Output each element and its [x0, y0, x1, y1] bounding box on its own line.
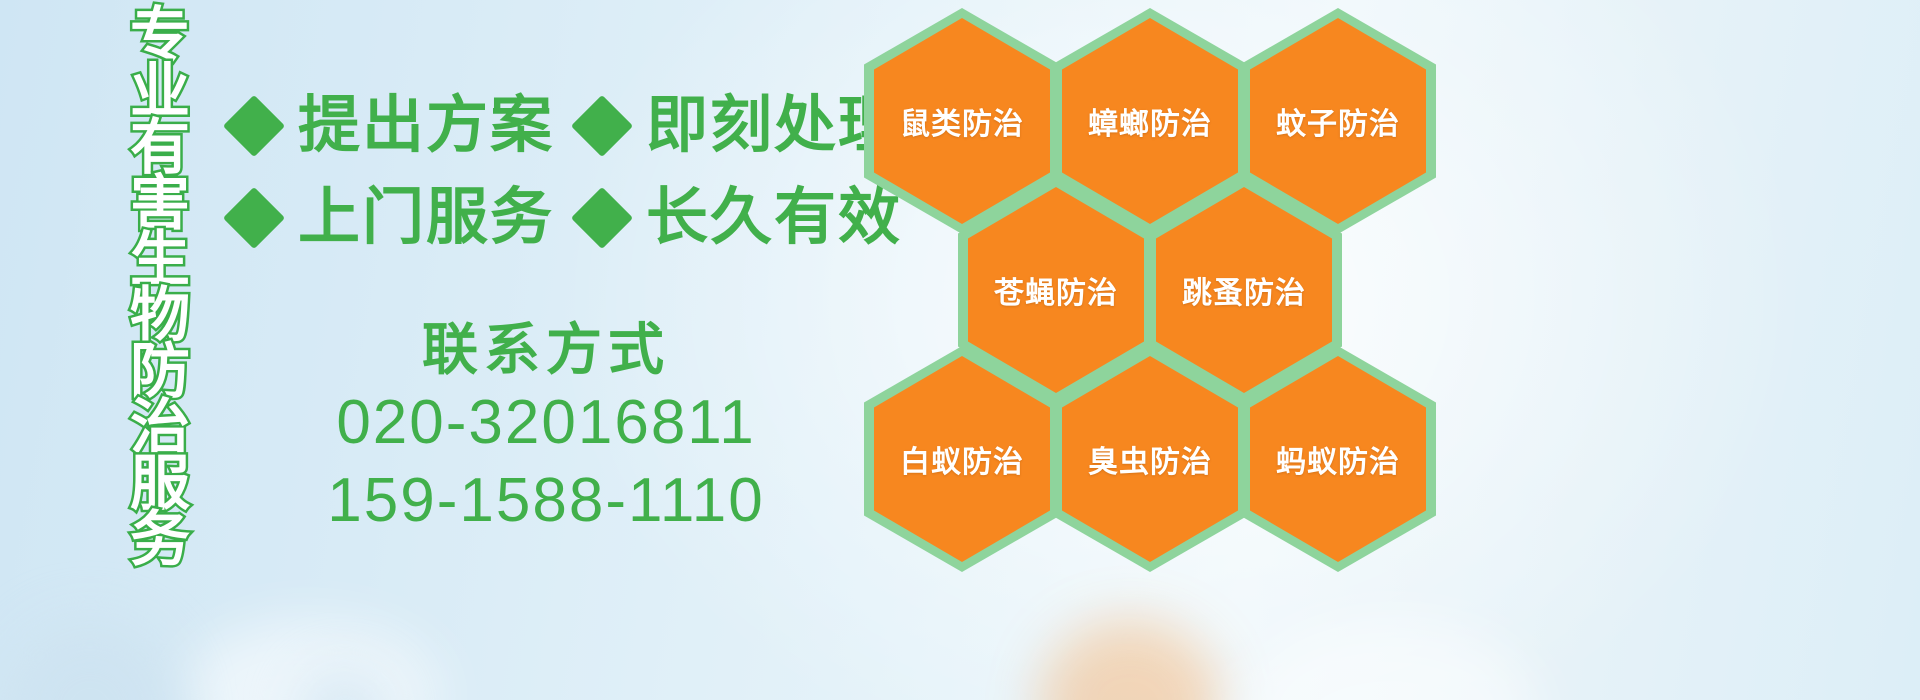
vertical-slogan-char: 服 [130, 456, 190, 512]
hex-label: 蟑螂防治 [1088, 99, 1212, 143]
hex-cell-bedbug[interactable]: 臭虫防治 [1052, 346, 1248, 572]
contact-block: 联系方式 020-32016811 159-1588-1110 [236, 316, 856, 540]
background-bokeh-blob [1240, 620, 1540, 700]
diamond-icon [571, 187, 633, 249]
diamond-icon [571, 95, 633, 157]
hex-label: 臭虫防治 [1088, 437, 1212, 481]
hex-cell-termite[interactable]: 白蚁防治 [864, 346, 1060, 572]
vertical-slogan-char: 害 [130, 176, 190, 232]
hex-label: 鼠类防治 [900, 99, 1024, 143]
hex-label: 白蚁防治 [900, 437, 1024, 481]
background-bokeh-blob [300, 670, 390, 700]
contact-title: 联系方式 [236, 316, 856, 384]
vertical-slogan-char: 治 [130, 400, 190, 456]
feature-label: 上门服务 [298, 187, 554, 249]
hex-label: 蚂蚁防治 [1276, 437, 1400, 481]
diamond-icon [223, 95, 285, 157]
feature-row: 上门服务 长久有效 [232, 172, 872, 264]
feature-row: 提出方案 即刻处理 [232, 80, 872, 172]
vertical-slogan-char: 专 [130, 8, 190, 64]
background-bokeh-blob [0, 620, 180, 700]
vertical-slogan: 专 业 有 害 生 物 防 治 服 务 [112, 8, 208, 568]
vertical-slogan-char: 生 [130, 232, 190, 288]
background-bokeh-blob [1040, 620, 1220, 700]
contact-phone-landline[interactable]: 020-32016811 [236, 384, 856, 462]
hex-label: 蚊子防治 [1276, 99, 1400, 143]
vertical-slogan-char: 物 [130, 288, 190, 344]
background-bokeh-blob [180, 620, 440, 700]
feature-label: 提出方案 [298, 95, 554, 157]
hex-label: 跳蚤防治 [1182, 268, 1306, 312]
contact-phone-mobile[interactable]: 159-1588-1110 [236, 462, 856, 540]
vertical-slogan-char: 防 [130, 344, 190, 400]
vertical-slogan-char: 务 [130, 512, 190, 568]
hex-cell-ant[interactable]: 蚂蚁防治 [1240, 346, 1436, 572]
hex-label: 苍蝇防治 [994, 268, 1118, 312]
promo-banner: 专 业 有 害 生 物 防 治 服 务 提出方案 即刻处理 上门服务 长久有效 … [0, 0, 1920, 700]
vertical-slogan-char: 有 [130, 120, 190, 176]
diamond-icon [223, 187, 285, 249]
service-honeycomb: 鼠类防治 蟑螂防治 蚊子防治 苍蝇防治 跳蚤防治 白蚁防治 [856, 0, 1476, 580]
vertical-slogan-char: 业 [130, 64, 190, 120]
feature-list: 提出方案 即刻处理 上门服务 长久有效 [232, 80, 872, 264]
